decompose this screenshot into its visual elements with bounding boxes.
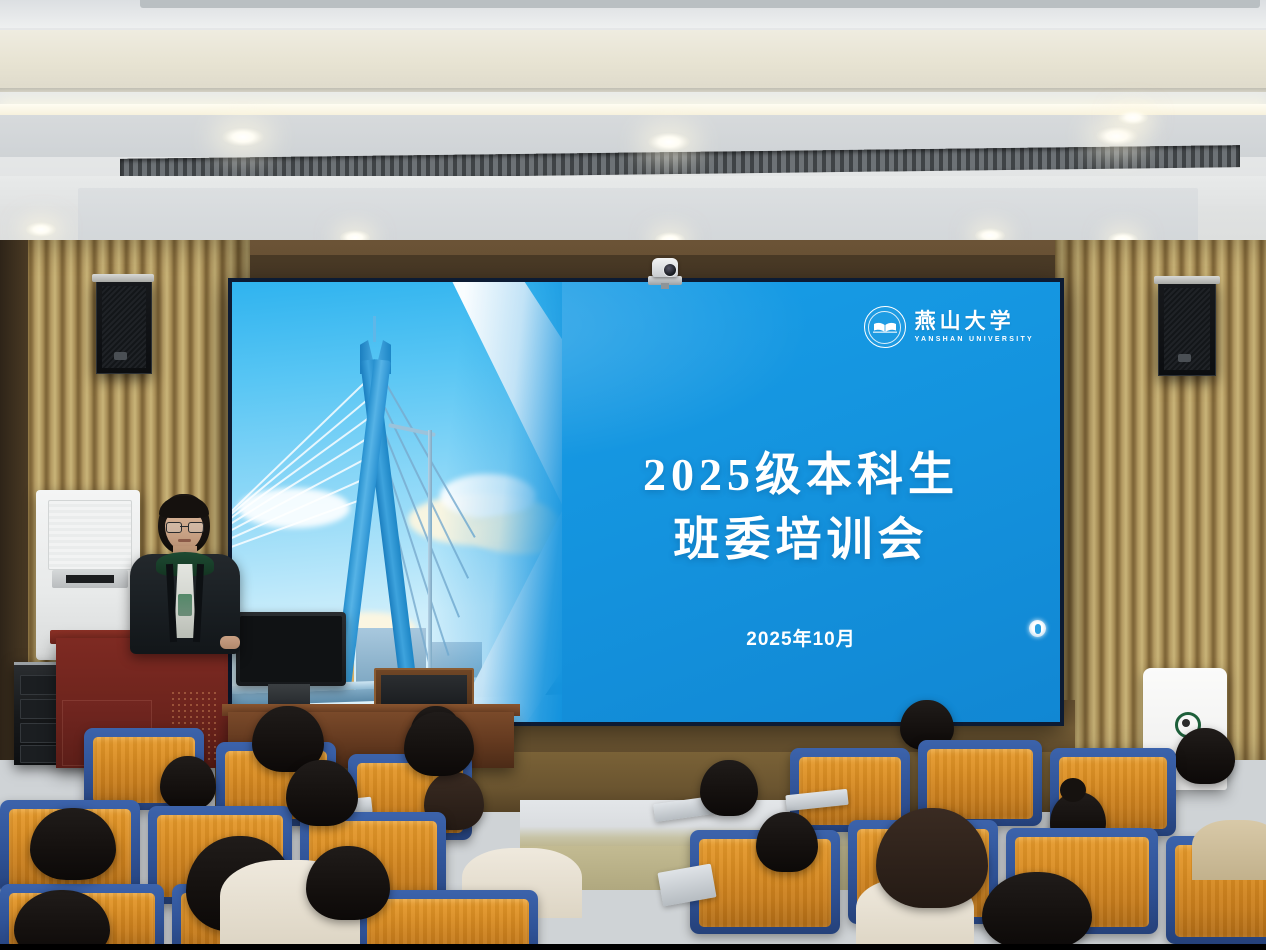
audience-head — [700, 760, 758, 816]
ceiling-inner-panel — [78, 188, 1198, 248]
image-bottom-edge — [0, 944, 1266, 950]
downlight-icon — [1118, 110, 1148, 125]
audience-head — [30, 808, 116, 880]
desk-monitor — [236, 612, 346, 686]
university-name-en: YANSHAN UNIVERSITY — [915, 336, 1034, 343]
left-speaker-logo — [114, 352, 127, 360]
ceiling-recess-slot — [140, 0, 1260, 8]
university-name-cn: 燕山大学 — [915, 311, 1034, 332]
camera-stem — [661, 283, 669, 289]
audience-head — [306, 846, 390, 920]
ptz-camera — [648, 258, 682, 288]
audience-head — [982, 872, 1092, 950]
glasses-lens-left — [166, 522, 182, 533]
audience-head — [756, 812, 818, 872]
av-cabinet-slot — [52, 570, 128, 588]
cove-light-strip — [0, 104, 1266, 115]
audience-head — [286, 760, 358, 826]
screen-control-dot — [1029, 620, 1046, 637]
downlight-icon — [1096, 126, 1138, 146]
presenter-hand — [220, 636, 240, 649]
right-speaker-bracket — [1154, 276, 1220, 284]
slide-title: 2025级本科生 班委培训会 — [562, 442, 1040, 573]
glasses-bridge — [180, 526, 188, 527]
presenter — [128, 494, 242, 654]
slide-title-line-2: 班委培训会 — [562, 507, 1040, 572]
audience-head — [160, 756, 216, 810]
audience-head — [404, 712, 474, 776]
eyeglasses-icon — [166, 522, 202, 531]
presenter-shirt-graphic — [178, 594, 192, 616]
ceiling — [0, 0, 1266, 250]
university-logo: 燕山大学 YANSHAN UNIVERSITY — [864, 306, 1034, 348]
downlight-icon — [222, 127, 264, 147]
camera-lens-icon — [663, 263, 677, 277]
av-cabinet-vent — [48, 500, 132, 570]
glasses-lens-right — [188, 522, 204, 533]
open-book-icon — [873, 322, 897, 333]
left-speaker-bracket — [92, 274, 154, 282]
slide-title-line-1: 2025级本科生 — [562, 442, 1040, 507]
downlight-icon — [26, 222, 56, 237]
audience-shoulders — [1192, 820, 1266, 880]
university-seal-icon — [864, 306, 906, 348]
downlight-icon — [648, 132, 690, 152]
projection-screen: 燕山大学 YANSHAN UNIVERSITY 2025级本科生 班委培训会 2… — [232, 282, 1060, 722]
seat-back-pad — [799, 757, 901, 825]
university-logo-text: 燕山大学 YANSHAN UNIVERSITY — [915, 311, 1034, 343]
auditorium-scene: 燕山大学 YANSHAN UNIVERSITY 2025级本科生 班委培训会 2… — [0, 0, 1266, 950]
seat-back-pad — [367, 899, 529, 950]
ceiling-warm-band — [0, 30, 1266, 92]
slide-date: 2025年10月 — [562, 624, 1040, 651]
audience-head — [876, 808, 988, 908]
presenter-mouth — [178, 539, 191, 542]
right-speaker-logo — [1178, 354, 1191, 362]
presenter-hair — [159, 496, 209, 518]
camera-body — [652, 258, 678, 277]
audience-head — [1175, 728, 1235, 784]
